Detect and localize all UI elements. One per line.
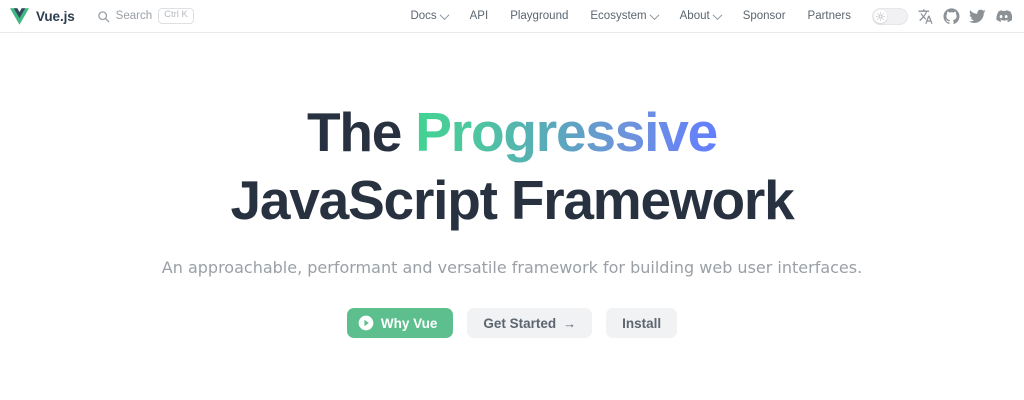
chevron-down-icon bbox=[439, 10, 449, 20]
nav-item-api[interactable]: API bbox=[459, 10, 500, 22]
nav-item-label: About bbox=[680, 10, 710, 22]
hero-tagline: An approachable, performant and versatil… bbox=[0, 256, 1024, 280]
install-button[interactable]: Install bbox=[606, 308, 677, 338]
chevron-down-icon bbox=[712, 10, 722, 20]
nav-item-label: Playground bbox=[510, 10, 568, 22]
nav-item-docs[interactable]: Docs bbox=[399, 10, 458, 22]
why-vue-button[interactable]: Why Vue bbox=[347, 308, 454, 338]
get-started-label: Get Started bbox=[483, 316, 556, 331]
search-icon bbox=[97, 10, 110, 23]
hero-title-line-1: The Progressive bbox=[0, 99, 1024, 167]
translate-icon[interactable] bbox=[912, 3, 938, 29]
get-started-button[interactable]: Get Started → bbox=[467, 308, 592, 338]
toggle-knob bbox=[874, 10, 887, 23]
hero-action-buttons: Why Vue Get Started → Install bbox=[0, 308, 1024, 338]
nav-item-playground[interactable]: Playground bbox=[499, 10, 579, 22]
search-button[interactable]: Search Ctrl K bbox=[97, 8, 194, 23]
why-vue-label: Why Vue bbox=[381, 316, 438, 331]
nav-item-partners[interactable]: Partners bbox=[797, 10, 862, 22]
play-circle-icon bbox=[358, 315, 374, 331]
main-navigation: Docs API Playground Ecosystem About Spon… bbox=[399, 3, 1024, 29]
page-title: The Progressive JavaScript Framework bbox=[0, 99, 1024, 234]
brand-home-link[interactable]: Vue.js bbox=[10, 8, 75, 25]
search-shortcut-badge: Ctrl K bbox=[158, 8, 194, 23]
site-header: Vue.js Search Ctrl K Docs API Playground bbox=[0, 0, 1024, 33]
search-label: Search bbox=[116, 10, 152, 22]
nav-item-label: API bbox=[470, 10, 489, 22]
hero-title-plain: The bbox=[307, 101, 415, 163]
nav-item-ecosystem[interactable]: Ecosystem bbox=[579, 10, 668, 22]
discord-icon[interactable] bbox=[990, 3, 1016, 29]
hero-title-line-2: JavaScript Framework bbox=[0, 167, 1024, 235]
hero-title-gradient: Progressive bbox=[415, 101, 717, 163]
install-label: Install bbox=[622, 316, 661, 331]
hero-section: The Progressive JavaScript Framework An … bbox=[0, 33, 1024, 338]
twitter-icon[interactable] bbox=[964, 3, 990, 29]
header-left-group: Vue.js Search Ctrl K bbox=[0, 8, 194, 25]
brand-name: Vue.js bbox=[36, 9, 75, 24]
nav-item-label: Sponsor bbox=[743, 10, 786, 22]
appearance-toggle[interactable] bbox=[872, 8, 908, 25]
arrow-right-icon: → bbox=[563, 317, 576, 330]
nav-item-sponsor[interactable]: Sponsor bbox=[732, 10, 797, 22]
nav-item-label: Docs bbox=[410, 10, 436, 22]
nav-item-label: Partners bbox=[808, 10, 851, 22]
github-icon[interactable] bbox=[938, 3, 964, 29]
chevron-down-icon bbox=[649, 10, 659, 20]
nav-item-about[interactable]: About bbox=[669, 10, 732, 22]
nav-item-label: Ecosystem bbox=[590, 10, 646, 22]
sun-icon bbox=[876, 12, 885, 21]
vue-logo-icon bbox=[10, 8, 29, 25]
nav-menu-list: Docs API Playground Ecosystem About Spon… bbox=[399, 10, 862, 22]
